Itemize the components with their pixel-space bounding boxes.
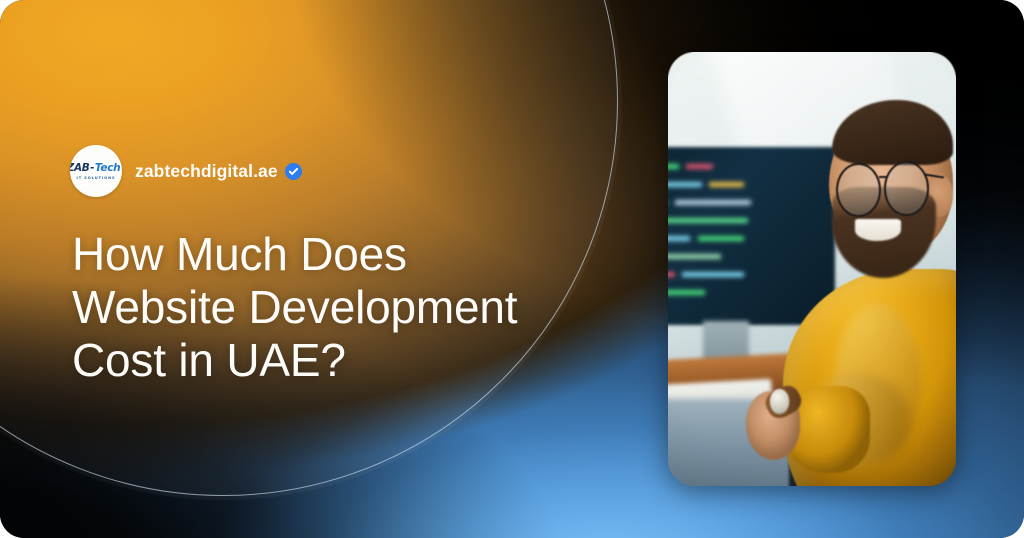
photo-card [668, 52, 956, 486]
brand-row: ZAB - Tech › IT SOLUTIONS zabtechdigital… [70, 145, 302, 197]
photo-depth-of-field-overlay [668, 52, 956, 486]
logo-word-zab: ZAB [70, 163, 90, 174]
logo-word-tech: Tech [95, 163, 120, 174]
account-handle-group[interactable]: zabtechdigital.ae [135, 161, 302, 182]
logo-wordmark: ZAB - Tech › [70, 162, 122, 173]
content-column: ZAB - Tech › IT SOLUTIONS zabtechdigital… [70, 0, 610, 538]
developer-portrait-image [668, 52, 956, 486]
account-handle: zabtechdigital.ae [135, 161, 278, 182]
headline-line-2: Website Development [72, 281, 592, 334]
logo-separator: - [90, 163, 94, 174]
page-title: How Much Does Website Development Cost i… [72, 228, 592, 387]
headline-line-1: How Much Does [72, 228, 592, 281]
chevron-right-icon: › [121, 162, 122, 173]
zab-tech-logo-icon: ZAB - Tech › IT SOLUTIONS [70, 145, 122, 197]
social-post-banner: ZAB - Tech › IT SOLUTIONS zabtechdigital… [0, 0, 1024, 538]
verified-check-icon [285, 163, 302, 180]
logo-tagline: IT SOLUTIONS [76, 176, 115, 180]
headline-line-3: Cost in UAE? [72, 334, 592, 387]
